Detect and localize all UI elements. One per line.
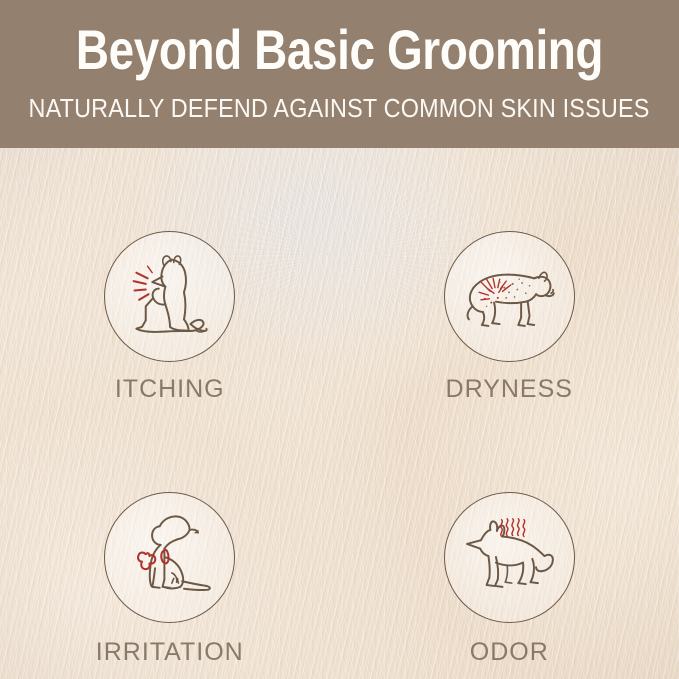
header-banner: Beyond Basic Grooming NATURALLY DEFEND A… xyxy=(0,0,679,148)
feature-label-odor: ODOR xyxy=(470,640,549,665)
page-subtitle: NATURALLY DEFEND AGAINST COMMON SKIN ISS… xyxy=(29,95,650,121)
badge-circle-dryness xyxy=(444,231,575,362)
feature-item-itching: ITCHING xyxy=(0,148,340,414)
badge-circle-odor xyxy=(444,492,575,623)
feature-item-irritation: IRRITATION xyxy=(0,414,340,679)
feature-label-itching: ITCHING xyxy=(115,377,225,402)
page-title: Beyond Basic Grooming xyxy=(76,22,603,78)
feature-item-dryness: DRYNESS xyxy=(340,148,679,414)
badge-circle-itching xyxy=(104,231,235,362)
badge-circle-irritation xyxy=(104,492,235,623)
feature-label-irritation: IRRITATION xyxy=(96,640,244,665)
dog-dry-flaky-skin-icon xyxy=(453,241,565,353)
feature-label-dryness: DRYNESS xyxy=(446,377,573,402)
promo-graphic: Beyond Basic Grooming NATURALLY DEFEND A… xyxy=(0,0,679,679)
dog-odor-icon xyxy=(453,501,565,613)
dog-scratching-icon xyxy=(114,241,226,353)
feature-grid: ITCHING xyxy=(0,148,679,679)
dog-irritated-patches-icon xyxy=(114,501,226,613)
feature-item-odor: ODOR xyxy=(340,414,679,679)
